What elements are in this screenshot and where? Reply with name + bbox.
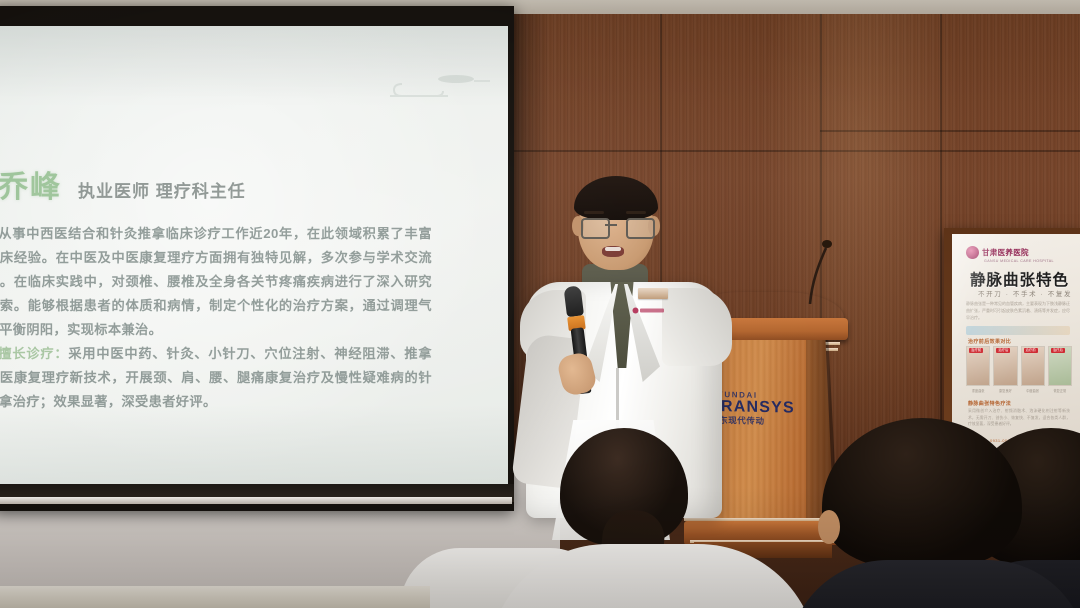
photo-scene: 秦乔峰 执业医师 理疗科主任 从事中西医结合和针灸推拿临床诊疗工作近20年，在此… — [0, 0, 1080, 608]
glasses-bridge — [605, 224, 617, 226]
nurse-uniform — [488, 544, 818, 608]
screen-vignette — [0, 26, 508, 488]
screen-rail — [0, 497, 512, 504]
front-table-edge — [0, 586, 430, 608]
audience-nurse — [516, 424, 784, 608]
glasses-lens-right — [626, 218, 655, 239]
presenter-eyebrow-left — [584, 211, 604, 214]
presenter-eyebrow-right — [626, 211, 646, 214]
audience-man-right — [822, 418, 1042, 608]
audience-ear — [818, 510, 840, 544]
audience-hair — [822, 418, 1022, 568]
presenter-mouth — [602, 246, 624, 257]
coat-embroidered-logo-icon — [632, 306, 666, 315]
audience-shoulders — [788, 560, 1080, 608]
presenter-shoulder-right — [662, 288, 732, 366]
projection-screen: 秦乔峰 执业医师 理疗科主任 从事中西医结合和针灸推拿临床诊疗工作近20年，在此… — [0, 26, 508, 488]
glasses-lens-left — [581, 218, 610, 239]
microphone-head — [563, 285, 584, 317]
presenter-name-badge — [638, 288, 668, 299]
